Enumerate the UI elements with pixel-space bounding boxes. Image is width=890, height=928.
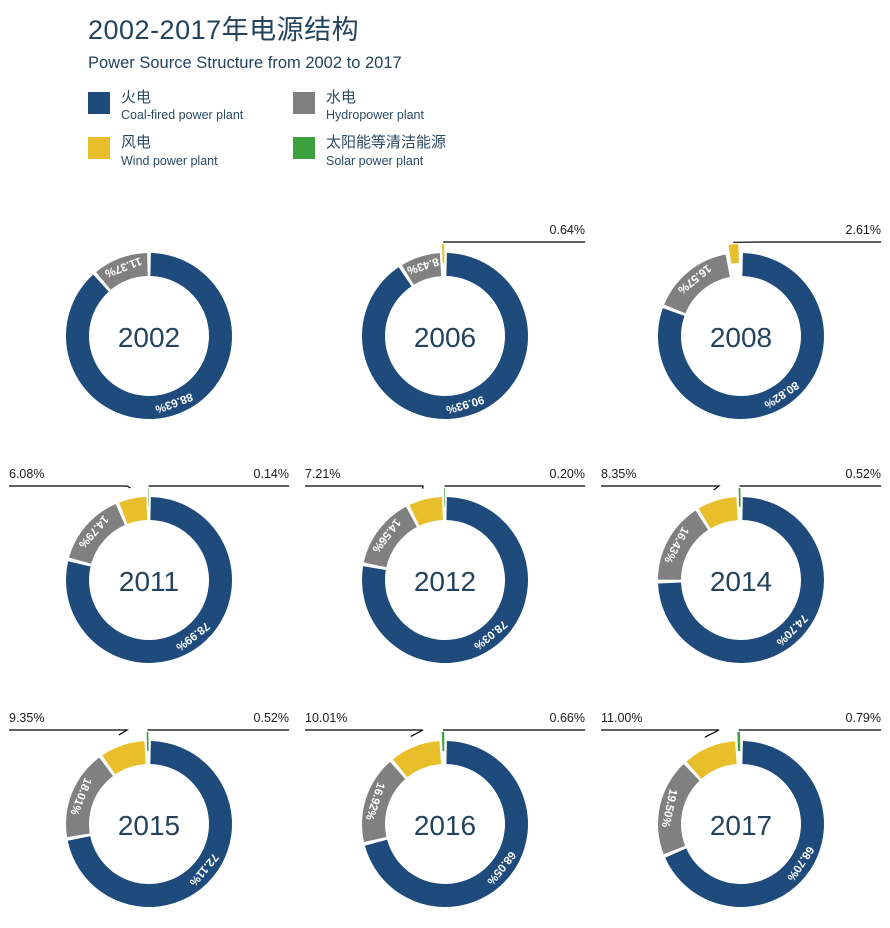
donut-chart-2015: 201572.11%18.01%9.35%0.52%	[1, 684, 297, 928]
donut-chart-2008: 200880.82%16.57%2.61%	[593, 196, 889, 440]
donut-chart-2014: 201474.70%16.43%8.35%0.52%	[593, 440, 889, 684]
callout-leader-line-wind	[9, 486, 130, 488]
callout-label-solar: 0.14%	[254, 467, 289, 481]
legend-text-hydro: 水电Hydropower plant	[326, 90, 424, 123]
legend-swatch-hydro	[293, 92, 315, 114]
donut-slice-wind	[393, 741, 441, 777]
donut-slice-solar	[737, 732, 740, 751]
donut-slice-wind	[442, 244, 444, 263]
legend-label-en-hydro: Hydropower plant	[326, 108, 424, 122]
legend-swatch-solar	[293, 137, 315, 159]
callout-label-wind: 9.35%	[9, 711, 44, 725]
callout-label-wind: 2.61%	[846, 223, 881, 237]
callout-label-wind: 7.21%	[305, 467, 340, 481]
legend-item-wind: 风电Wind power plant	[88, 135, 293, 168]
legend-text-wind: 风电Wind power plant	[121, 135, 218, 168]
donut-slice-solar	[148, 488, 149, 507]
legend-item-coal: 火电Coal-fired power plant	[88, 90, 293, 123]
callout-label-solar: 0.20%	[550, 467, 585, 481]
page-header: 2002-2017年电源结构 Power Source Structure fr…	[0, 0, 890, 74]
donut-chart-2011: 201178.99%14.79%6.08%0.14%	[1, 440, 297, 684]
donut-year-label: 2016	[414, 810, 476, 841]
donut-slice-wind	[409, 497, 442, 526]
donut-slice-wind	[102, 741, 145, 774]
callout-leader-line-wind	[9, 730, 127, 735]
donut-slice-wind	[729, 244, 739, 264]
legend: 火电Coal-fired power plant水电Hydropower pla…	[88, 90, 518, 169]
donut-year-label: 2002	[118, 322, 180, 353]
donut-year-label: 2015	[118, 810, 180, 841]
callout-label-solar: 0.66%	[550, 711, 585, 725]
donut-year-label: 2006	[414, 322, 476, 353]
donut-year-label: 2017	[710, 810, 772, 841]
callout-leader-line-wind	[601, 730, 719, 737]
page-subtitle: Power Source Structure from 2002 to 2017	[88, 54, 890, 74]
legend-label-en-solar: Solar power plant	[326, 154, 446, 168]
callout-label-wind: 0.64%	[550, 223, 585, 237]
callout-label-solar: 0.52%	[846, 467, 881, 481]
donut-slice-wind	[119, 497, 147, 524]
donut-slice-solar	[442, 732, 445, 751]
donut-chart-grid: 200288.63%11.37%200690.93%8.43%0.64%2008…	[0, 196, 890, 928]
legend-swatch-coal	[88, 92, 110, 114]
callout-leader-line-wind	[305, 486, 423, 489]
legend-text-solar: 太阳能等清洁能源Solar power plant	[326, 135, 446, 168]
callout-label-wind: 8.35%	[601, 467, 636, 481]
legend-label-cn-coal: 火电	[121, 90, 243, 107]
donut-chart-2017: 201768.70%19.50%11.00%0.79%	[593, 684, 889, 928]
donut-slice-solar	[147, 732, 149, 751]
donut-slice-wind	[686, 741, 736, 779]
donut-year-label: 2014	[710, 566, 772, 597]
donut-year-label: 2011	[119, 566, 179, 597]
callout-label-solar: 0.52%	[254, 711, 289, 725]
donut-slice-solar	[444, 488, 445, 507]
donut-slice-solar	[739, 488, 741, 507]
donut-chart-2006: 200690.93%8.43%0.64%	[297, 196, 593, 440]
legend-label-en-coal: Coal-fired power plant	[121, 108, 243, 122]
donut-year-label: 2012	[414, 566, 476, 597]
donut-chart-2012: 201278.03%14.56%7.21%0.20%	[297, 440, 593, 684]
legend-label-cn-hydro: 水电	[326, 90, 424, 107]
legend-label-cn-wind: 风电	[121, 135, 218, 152]
legend-item-hydro: 水电Hydropower plant	[293, 90, 498, 123]
callout-leader-line-wind	[601, 486, 719, 490]
donut-chart-2002: 200288.63%11.37%	[1, 196, 297, 440]
callout-label-wind: 10.01%	[305, 711, 347, 725]
donut-slice-wind	[699, 497, 738, 528]
page-title: 2002-2017年电源结构	[88, 14, 890, 48]
callout-label-solar: 0.79%	[846, 711, 881, 725]
donut-slice-hydro	[66, 758, 113, 838]
callout-label-wind: 11.00%	[601, 711, 642, 725]
legend-label-en-wind: Wind power plant	[121, 154, 218, 168]
legend-label-cn-solar: 太阳能等清洁能源	[326, 135, 446, 152]
donut-chart-2016: 201668.05%16.92%10.01%0.66%	[297, 684, 593, 928]
callout-leader-line-wind	[305, 730, 423, 736]
donut-year-label: 2008	[710, 322, 772, 353]
legend-text-coal: 火电Coal-fired power plant	[121, 90, 243, 123]
legend-item-solar: 太阳能等清洁能源Solar power plant	[293, 135, 498, 168]
legend-swatch-wind	[88, 137, 110, 159]
callout-label-wind: 6.08%	[9, 467, 44, 481]
